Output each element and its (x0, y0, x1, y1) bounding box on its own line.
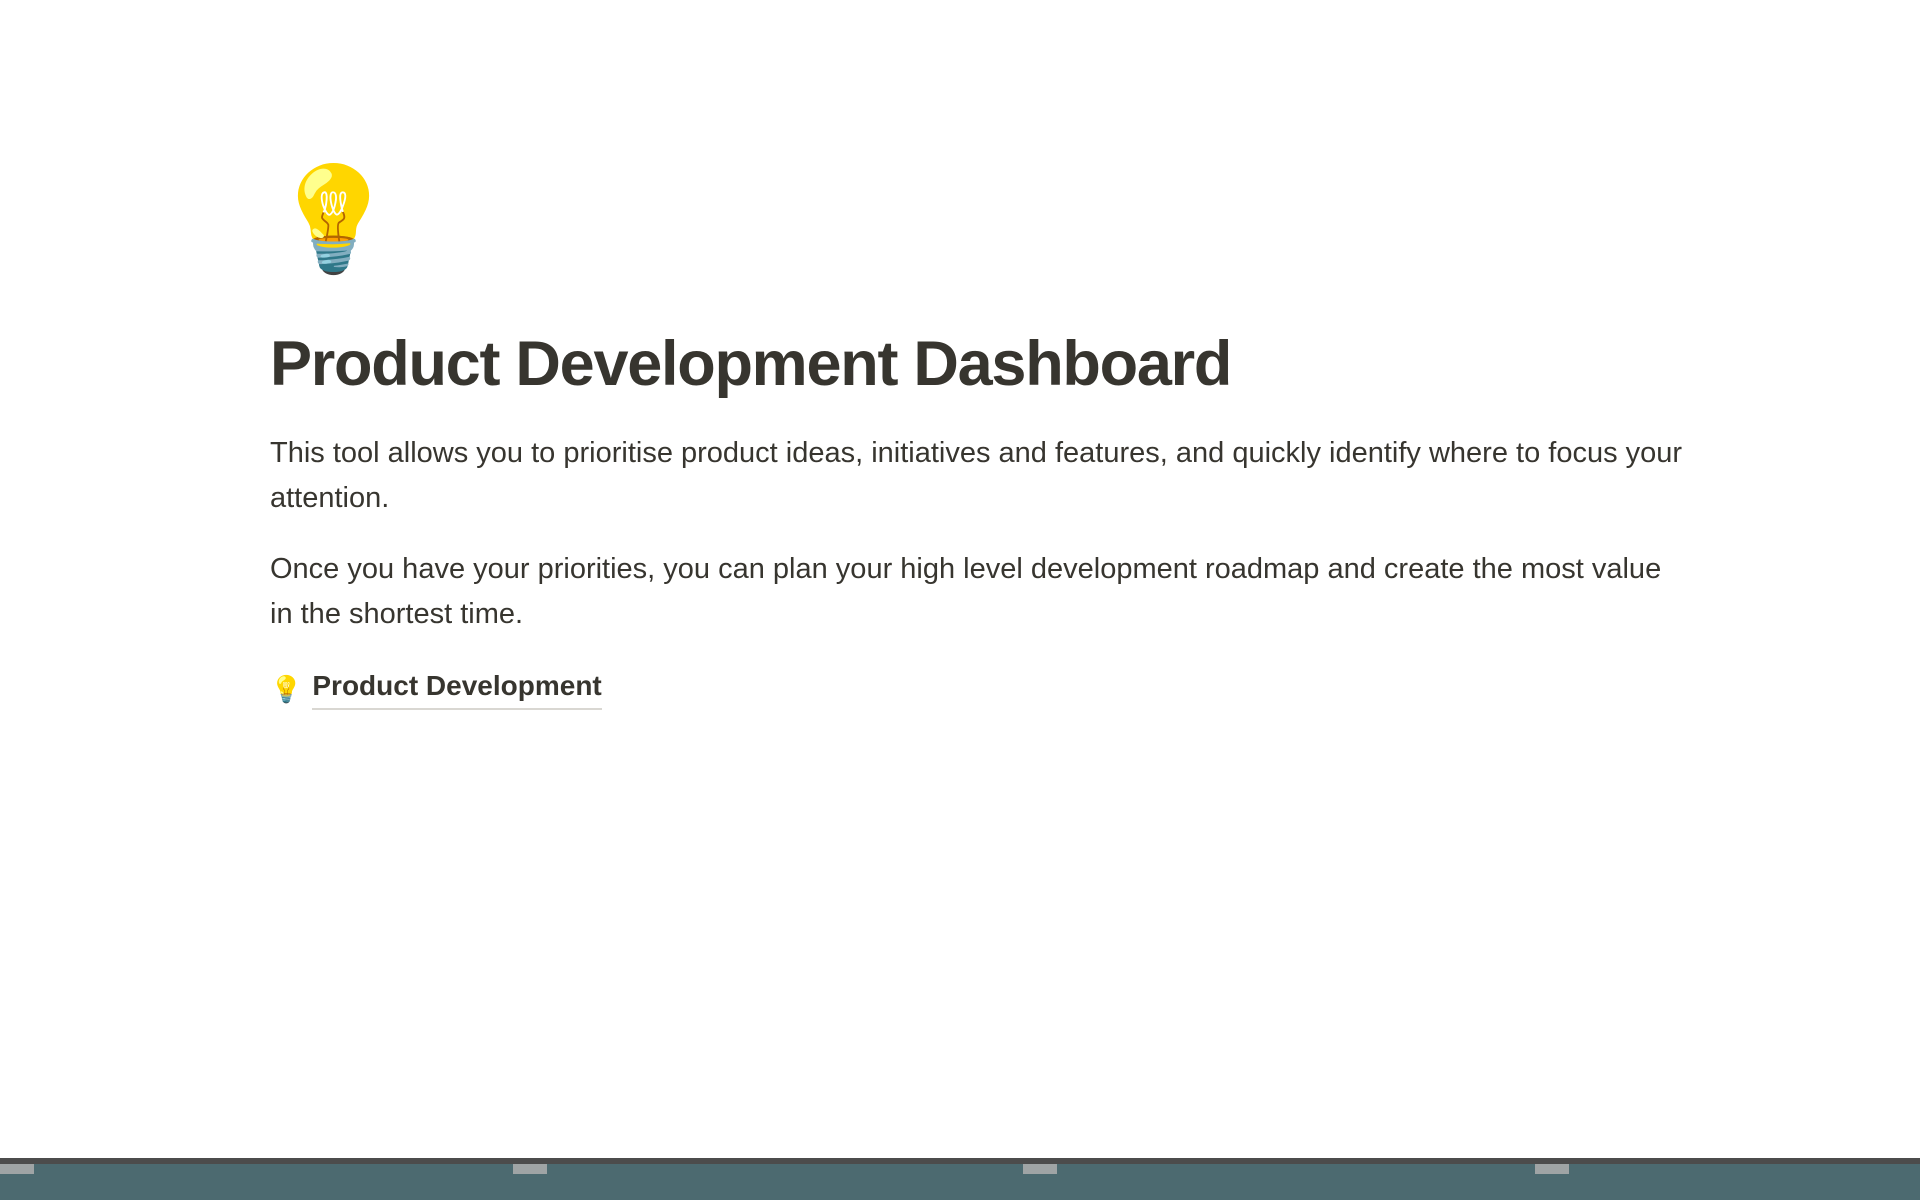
document-page: 💡 Product Development Dashboard This too… (0, 0, 1920, 1200)
page-link-label: Product Development (312, 668, 601, 709)
bottom-bar-tick (1023, 1164, 1057, 1174)
light-bulb-icon: 💡 (270, 676, 302, 702)
bottom-bar-tick (0, 1164, 34, 1174)
bottom-bar-tick (1535, 1164, 1569, 1174)
page-title[interactable]: Product Development Dashboard (270, 330, 1720, 399)
bottom-bar-tick-group (0, 1164, 1920, 1174)
bottom-bar-tick (513, 1164, 547, 1174)
intro-paragraph-1[interactable]: This tool allows you to prioritise produ… (270, 431, 1690, 521)
document-content: 💡 Product Development Dashboard This too… (0, 0, 1920, 711)
intro-paragraph-2[interactable]: Once you have your priorities, you can p… (270, 547, 1690, 637)
light-bulb-emoji[interactable]: 💡 (270, 168, 1720, 300)
page-link-product-development[interactable]: 💡 Product Development (270, 668, 602, 709)
bottom-window-bar[interactable] (0, 1158, 1920, 1200)
page-link-row: 💡 Product Development (270, 667, 1720, 711)
